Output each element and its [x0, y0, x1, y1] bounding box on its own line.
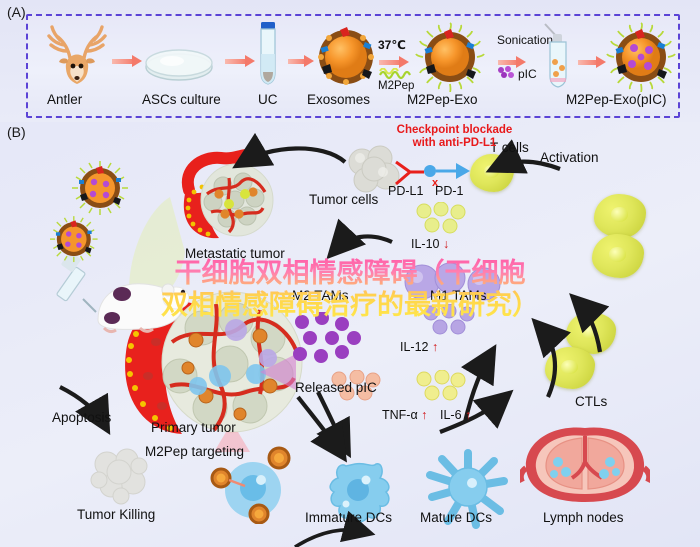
peptide-squiggle-icon [379, 68, 411, 80]
watermark-line-1: 干细胞双相情感障碍（干细胞 [0, 258, 700, 290]
panel-a-annotation-m2pep: M2Pep [378, 80, 414, 92]
panel-b-label-immature-dcs: Immature DCs [305, 510, 392, 525]
cytokine-il10: IL-10 ↓ [411, 237, 449, 251]
checkpoint-line1: Checkpoint blockade [397, 124, 513, 136]
panel-b: (B) [0, 122, 700, 547]
panel-b-label-m2pep-targeting: M2Pep targeting [145, 444, 244, 459]
cytokine-il6-direction: ↑ [465, 408, 471, 422]
watermark-line-2: 双相情感障碍治疗的最新研究） [0, 290, 700, 322]
metastatic-tumor-icon [167, 142, 297, 250]
checkpoint-line2: with anti-PD-L1 [413, 137, 497, 149]
ctl-2 [545, 347, 595, 389]
petri-dish-icon [142, 45, 216, 85]
loaded-exosome-icon [606, 22, 676, 92]
exosome-icon [314, 25, 378, 89]
panel-b-label-tumor-cells: Tumor cells [309, 192, 378, 207]
lymph-nodes-icon [520, 422, 650, 508]
panel-a-annotation-pic: pIC [518, 67, 537, 81]
cytokine-il10-name: IL-10 [411, 237, 440, 251]
panel-a-label-exosomes: Exosomes [307, 92, 370, 107]
panel-a-label-uc: UC [258, 92, 278, 107]
panel-b-tag: (B) [7, 124, 26, 140]
peptide-exosome-icon [415, 22, 485, 92]
cytokine-il12-direction: ↑ [432, 340, 438, 354]
sonication-tube-icon [541, 22, 575, 94]
panel-a-label-ascs: ASCs culture [142, 92, 221, 107]
panel-a-annotation-temperature: 37℃ [378, 38, 406, 52]
scientific-figure: (A) Antler ASCs culture [0, 0, 700, 547]
panel-a-label-m2pep-exo-pic: M2Pep-Exo(pIC) [566, 92, 667, 107]
panel-b-label-ctls: CTLs [575, 394, 607, 409]
cytokine-il12: IL-12 ↑ [400, 340, 438, 354]
deer-antler-icon [40, 24, 114, 86]
il6-dots [415, 370, 471, 404]
panel-b-label-mature-dcs: Mature DCs [420, 510, 492, 525]
panel-b-label-pdl1: PD-L1 [388, 184, 423, 198]
cytokine-tnfa-name: TNF-α [382, 408, 418, 422]
watermark-overlay: 干细胞双相情感障碍（干细胞 双相情感障碍治疗的最新研究） [0, 258, 700, 322]
centrifuge-tube-icon [253, 20, 283, 90]
panel-a-tag: (A) [7, 4, 26, 20]
panel-b-label-apoptosis: Apoptosis [52, 410, 111, 425]
panel-b-label-activation: Activation [540, 150, 599, 165]
arrow-uc-to-exosomes [288, 57, 314, 66]
arrow-antler-to-culture [112, 57, 142, 66]
il10-cytokine-dots [415, 202, 471, 238]
panel-b-label-released-pic: Released pIC [295, 380, 377, 395]
checkpoint-blockade-callout: Checkpoint blockade with anti-PD-L1 [372, 124, 537, 150]
panel-b-label-tumor-killing: Tumor Killing [77, 507, 155, 522]
panel-a-label-antler: Antler [47, 92, 82, 107]
panel-a: (A) Antler ASCs culture [0, 0, 700, 122]
arrow-exosomes-to-m2pep [379, 58, 409, 67]
arrow-to-final-exosome [578, 58, 606, 67]
panel-a-label-m2pep-exo: M2Pep-Exo [407, 92, 478, 107]
tcell-2 [594, 194, 646, 238]
panel-b-label-lymph-nodes: Lymph nodes [543, 510, 624, 525]
cytokine-il6: IL-6 ↑ [440, 408, 471, 422]
cytokine-tnfa-direction: ↑ [421, 408, 427, 422]
panel-b-label-primary-tumor: Primary tumor [151, 420, 236, 435]
pic-cluster-icon [497, 66, 515, 80]
cytokine-il10-direction: ↓ [443, 237, 449, 251]
cytokine-il12-name: IL-12 [400, 340, 429, 354]
arrow-culture-to-uc [225, 57, 255, 66]
cytokine-tnfa: TNF-α ↑ [382, 408, 427, 422]
cytokine-il6-name: IL-6 [440, 408, 462, 422]
panel-b-label-pd1: PD-1 [435, 184, 463, 198]
